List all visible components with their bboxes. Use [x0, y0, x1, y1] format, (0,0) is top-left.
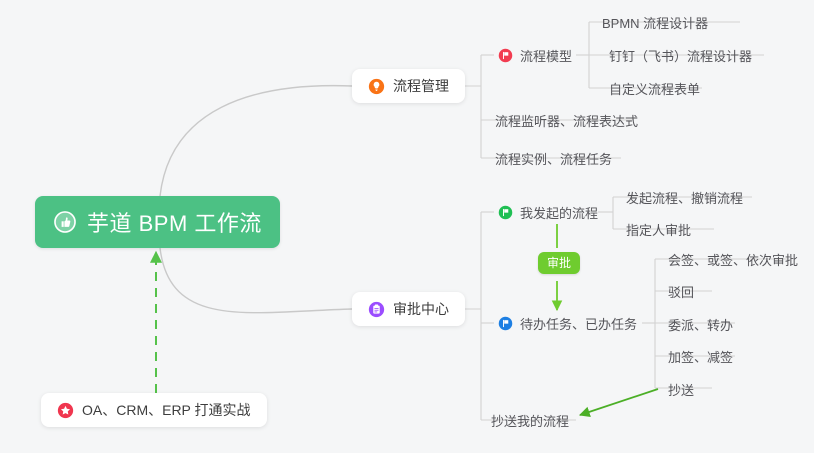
- node-label: 加签、减签: [668, 347, 733, 366]
- node-label: 流程监听器、流程表达式: [495, 111, 638, 130]
- floating-node-label: OA、CRM、ERP 打通实战: [82, 400, 251, 420]
- root-node-label: 芋道 BPM 工作流: [87, 206, 262, 238]
- branch-node-approval-center[interactable]: 审批中心: [352, 292, 465, 326]
- mindmap-canvas[interactable]: 芋道 BPM 工作流 流程管理 流程模型 BPMN 流程设计器 钉钉（飞书）流程…: [0, 0, 814, 453]
- node-listener-expression[interactable]: 流程监听器、流程表达式: [491, 107, 642, 133]
- node-label: 流程实例、流程任务: [495, 149, 612, 168]
- node-process-model[interactable]: 流程模型: [494, 42, 576, 68]
- edge-root-to-process-mgmt: [160, 86, 352, 196]
- node-todo-done-task[interactable]: 待办任务、已办任务: [494, 310, 641, 336]
- node-dingtalk-feishu-designer[interactable]: 钉钉（飞书）流程设计器: [605, 42, 756, 68]
- node-custom-process-form[interactable]: 自定义流程表单: [605, 75, 704, 101]
- node-label: 委派、转办: [668, 315, 733, 334]
- node-label: 驳回: [668, 282, 694, 301]
- flag-icon: [498, 205, 513, 220]
- thumbs-up-icon: [53, 210, 77, 234]
- node-label: 指定人审批: [626, 220, 691, 239]
- node-instance-task[interactable]: 流程实例、流程任务: [491, 145, 616, 171]
- root-node[interactable]: 芋道 BPM 工作流: [35, 196, 280, 248]
- node-label: 抄送我的流程: [491, 411, 569, 430]
- lightbulb-icon: [368, 78, 385, 95]
- edge-root-to-approval-center: [160, 248, 352, 313]
- node-label: 发起流程、撤销流程: [626, 188, 743, 207]
- node-add-remove-sign[interactable]: 加签、减签: [664, 343, 737, 369]
- node-label: 我发起的流程: [520, 203, 598, 222]
- branch-node-label: 审批中心: [393, 299, 449, 319]
- star-icon: [57, 402, 74, 419]
- node-label: 待办任务、已办任务: [520, 314, 637, 333]
- node-label: 抄送: [668, 380, 694, 399]
- node-my-initiated-process[interactable]: 我发起的流程: [494, 199, 602, 225]
- node-cc-to-me-process[interactable]: 抄送我的流程: [487, 407, 573, 433]
- node-label: BPMN 流程设计器: [602, 13, 708, 32]
- node-label: 钉钉（飞书）流程设计器: [609, 46, 752, 65]
- node-label: 自定义流程表单: [609, 79, 700, 98]
- floating-node-integration[interactable]: OA、CRM、ERP 打通实战: [41, 393, 267, 427]
- node-label: 流程模型: [520, 46, 572, 65]
- clipboard-icon: [368, 301, 385, 318]
- branch-node-label: 流程管理: [393, 76, 449, 96]
- flag-icon: [498, 48, 513, 63]
- node-bpmn-designer[interactable]: BPMN 流程设计器: [598, 9, 712, 35]
- node-label: 会签、或签、依次审批: [668, 250, 798, 269]
- node-countersign-approval[interactable]: 会签、或签、依次审批: [664, 246, 802, 272]
- node-delegate-transfer[interactable]: 委派、转办: [664, 311, 737, 337]
- approval-edge-tag-label: 审批: [547, 256, 571, 270]
- node-reject[interactable]: 驳回: [664, 278, 698, 304]
- approval-edge-tag[interactable]: 审批: [538, 252, 580, 274]
- node-assigned-approval[interactable]: 指定人审批: [622, 216, 695, 242]
- branch-node-process-management[interactable]: 流程管理: [352, 69, 465, 103]
- node-start-cancel-process[interactable]: 发起流程、撤销流程: [622, 184, 747, 210]
- node-cc[interactable]: 抄送: [664, 376, 698, 402]
- flag-icon: [498, 316, 513, 331]
- cc-flow-arrow: [580, 389, 658, 415]
